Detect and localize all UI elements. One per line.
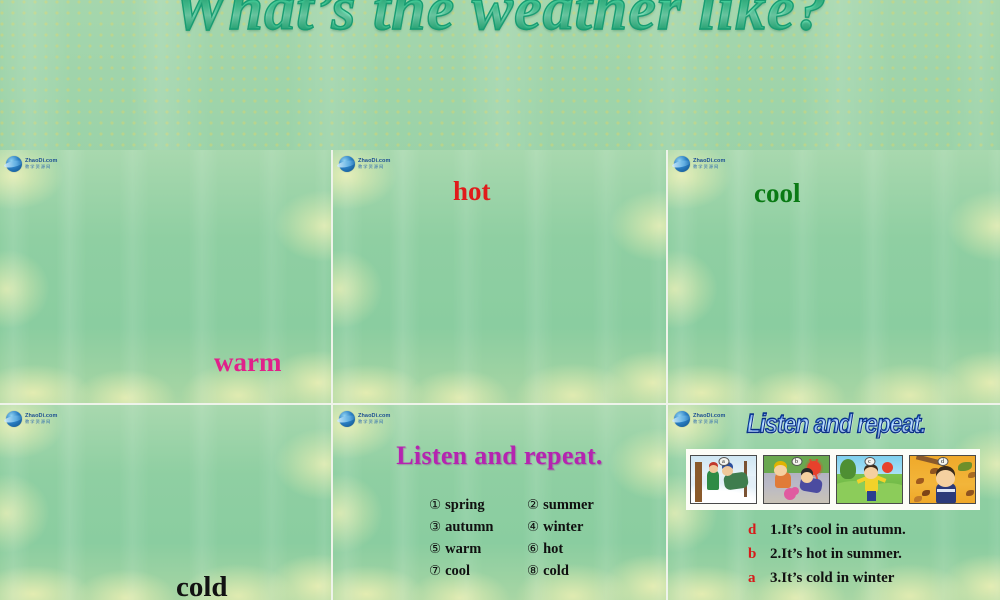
child-head-shape bbox=[709, 465, 718, 473]
list-item-label: winter bbox=[543, 519, 583, 535]
leaf-shape bbox=[914, 496, 922, 502]
slide-grid: ZhaoDi.com 教学资源网 warm ZhaoDi.com 教学资源网 h… bbox=[0, 150, 1000, 600]
answer-letter: d bbox=[748, 522, 770, 539]
autumn-falling-leaves-picture[interactable]: d bbox=[909, 455, 976, 504]
page-title: What’s the weather like? bbox=[0, 0, 1000, 40]
answer-letter: b bbox=[748, 546, 770, 563]
list-item-label: cold bbox=[543, 563, 569, 579]
list-item: ⑧cold bbox=[527, 563, 594, 580]
child-head-shape bbox=[864, 467, 878, 479]
watermark-logo-text: ZhaoDi.com 教学资源网 bbox=[358, 159, 390, 170]
answer-sentence: 1.It’s cool in autumn. bbox=[770, 522, 906, 539]
watermark-logo: ZhaoDi.com 教学资源网 bbox=[674, 156, 725, 172]
listen-and-repeat-heading: Listen and repeat. bbox=[333, 441, 666, 471]
watermark-logo-text: ZhaoDi.com 教学资源网 bbox=[693, 159, 725, 170]
list-item: ⑥hot bbox=[527, 541, 594, 558]
answer-sentence-list: d 1.It’s cool in autumn. b 2.It’s hot in… bbox=[748, 522, 906, 587]
leaf-shape bbox=[922, 490, 930, 496]
watermark-logo: ZhaoDi.com 教学资源网 bbox=[6, 411, 57, 427]
child-body-shape bbox=[707, 470, 719, 490]
list-item-number: ⑤ bbox=[429, 541, 441, 557]
slide-warm[interactable]: ZhaoDi.com 教学资源网 warm bbox=[0, 150, 331, 403]
child-head-shape bbox=[722, 466, 733, 476]
watermark-logo-text: ZhaoDi.com 教学资源网 bbox=[25, 414, 57, 425]
list-item-number: ③ bbox=[429, 519, 441, 535]
watermark-logo: ZhaoDi.com 教学资源网 bbox=[339, 156, 390, 172]
globe-swoosh-icon bbox=[674, 156, 690, 172]
answer-letter: a bbox=[748, 570, 770, 587]
answer-sentence: 2.It’s hot in summer. bbox=[770, 546, 906, 563]
slide-overview-page: What’s the weather like? ZhaoDi.com 教学资源… bbox=[0, 0, 1000, 600]
slide-hot[interactable]: ZhaoDi.com 教学资源网 hot bbox=[333, 150, 666, 403]
globe-swoosh-icon bbox=[6, 156, 22, 172]
list-item-label: autumn bbox=[445, 519, 493, 535]
watermark-logo-text: ZhaoDi.com 教学资源网 bbox=[25, 159, 57, 170]
globe-swoosh-icon bbox=[339, 156, 355, 172]
list-item: ⑦cool bbox=[429, 563, 521, 580]
list-item-label: spring bbox=[445, 497, 485, 513]
watermark-logo-line2: 教学资源网 bbox=[693, 420, 725, 424]
picture-tag-c: c bbox=[864, 457, 875, 466]
list-item-number: ① bbox=[429, 497, 441, 513]
list-item: ⑤warm bbox=[429, 541, 521, 558]
list-item-label: warm bbox=[445, 541, 481, 557]
child-legs-shape bbox=[867, 491, 876, 501]
list-item-number: ⑦ bbox=[429, 563, 441, 579]
winter-snow-picture[interactable]: a bbox=[690, 455, 757, 504]
child-head-shape bbox=[801, 472, 813, 483]
sun-icon bbox=[882, 462, 893, 473]
watermark-logo-text: ZhaoDi.com 教学资源网 bbox=[693, 414, 725, 425]
leaf-shape bbox=[916, 478, 924, 484]
slide-cool[interactable]: ZhaoDi.com 教学资源网 cool bbox=[668, 150, 1000, 403]
globe-swoosh-icon bbox=[339, 411, 355, 427]
picture-strip: a b bbox=[686, 449, 980, 510]
tree-shape bbox=[840, 459, 856, 479]
watermark-logo: ZhaoDi.com 教学资源网 bbox=[339, 411, 390, 427]
tree-trunk-shape bbox=[695, 462, 702, 502]
slide-listen-and-repeat-matching[interactable]: ZhaoDi.com 教学资源网 Listen and repeat. a bbox=[668, 405, 1000, 600]
list-item: ②summer bbox=[527, 497, 594, 514]
watermark-logo-line2: 教学资源网 bbox=[25, 165, 57, 169]
list-item-label: cool bbox=[445, 563, 470, 579]
flower-shape bbox=[784, 488, 796, 500]
watermark-logo-line2: 教学资源网 bbox=[358, 420, 390, 424]
child-head-shape bbox=[936, 470, 955, 487]
watermark-logo-line2: 教学资源网 bbox=[358, 165, 390, 169]
leaf-shape bbox=[958, 462, 972, 471]
page-title-band: What’s the weather like? bbox=[0, 0, 1000, 150]
slide-listen-and-repeat-list[interactable]: ZhaoDi.com 教学资源网 Listen and repeat. ①spr… bbox=[333, 405, 666, 600]
slide-cold[interactable]: ZhaoDi.com 教学资源网 cold bbox=[0, 405, 331, 600]
list-item-label: summer bbox=[543, 497, 594, 513]
globe-swoosh-icon bbox=[6, 411, 22, 427]
globe-swoosh-icon bbox=[674, 411, 690, 427]
list-item-number: ④ bbox=[527, 519, 539, 535]
list-item: ①spring bbox=[429, 497, 521, 514]
vocabulary-word-cool: cool bbox=[754, 180, 801, 207]
vocabulary-word-hot: hot bbox=[453, 178, 491, 205]
list-item-number: ⑧ bbox=[527, 563, 539, 579]
watermark-logo-line2: 教学资源网 bbox=[25, 420, 57, 424]
picture-tag-a: a bbox=[718, 457, 729, 466]
watermark-logo: ZhaoDi.com 教学资源网 bbox=[6, 156, 57, 172]
numbered-word-list: ①spring ②summer ③autumn ④winter ⑤warm ⑥h… bbox=[429, 497, 594, 580]
list-item-number: ⑥ bbox=[527, 541, 539, 557]
watermark-logo-line2: 教学资源网 bbox=[693, 165, 725, 169]
picture-tag-d: d bbox=[937, 457, 948, 466]
list-item: ④winter bbox=[527, 519, 594, 536]
spring-green-hills-picture[interactable]: c bbox=[836, 455, 903, 504]
watermark-logo: ZhaoDi.com 教学资源网 bbox=[674, 411, 725, 427]
leaf-shape bbox=[966, 490, 974, 496]
leaf-shape bbox=[968, 472, 976, 478]
child-head-shape bbox=[774, 465, 787, 476]
sweater-stripe-shape bbox=[937, 489, 955, 492]
vocabulary-word-warm: warm bbox=[214, 349, 281, 376]
list-item-label: hot bbox=[543, 541, 563, 557]
summer-hot-sun-picture[interactable]: b bbox=[763, 455, 830, 504]
watermark-logo-text: ZhaoDi.com 教学资源网 bbox=[358, 414, 390, 425]
answer-sentence: 3.It’s cold in winter bbox=[770, 570, 906, 587]
picture-tag-b: b bbox=[791, 457, 802, 466]
list-item-number: ② bbox=[527, 497, 539, 513]
vocabulary-word-cold: cold bbox=[176, 573, 228, 600]
list-item: ③autumn bbox=[429, 519, 521, 536]
